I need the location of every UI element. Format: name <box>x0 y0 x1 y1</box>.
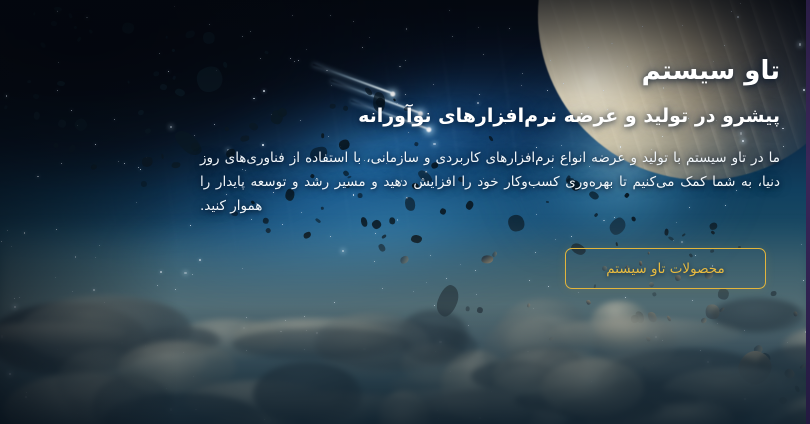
hero-description: ما در تاو سیستم با تولید و عرضه انواع نر… <box>200 146 780 218</box>
hero-subtitle: پیشرو در تولید و عرضه نرم‌افزارهای نوآور… <box>358 105 780 127</box>
products-cta-button[interactable]: محصولات تاو سیستم <box>565 248 766 289</box>
hero-banner: تاو سیستم پیشرو در تولید و عرضه نرم‌افزا… <box>0 0 810 424</box>
cta-container: محصولات تاو سیستم <box>565 248 766 289</box>
hero-content: تاو سیستم پیشرو در تولید و عرضه نرم‌افزا… <box>0 0 810 424</box>
page-title: تاو سیستم <box>642 56 780 86</box>
